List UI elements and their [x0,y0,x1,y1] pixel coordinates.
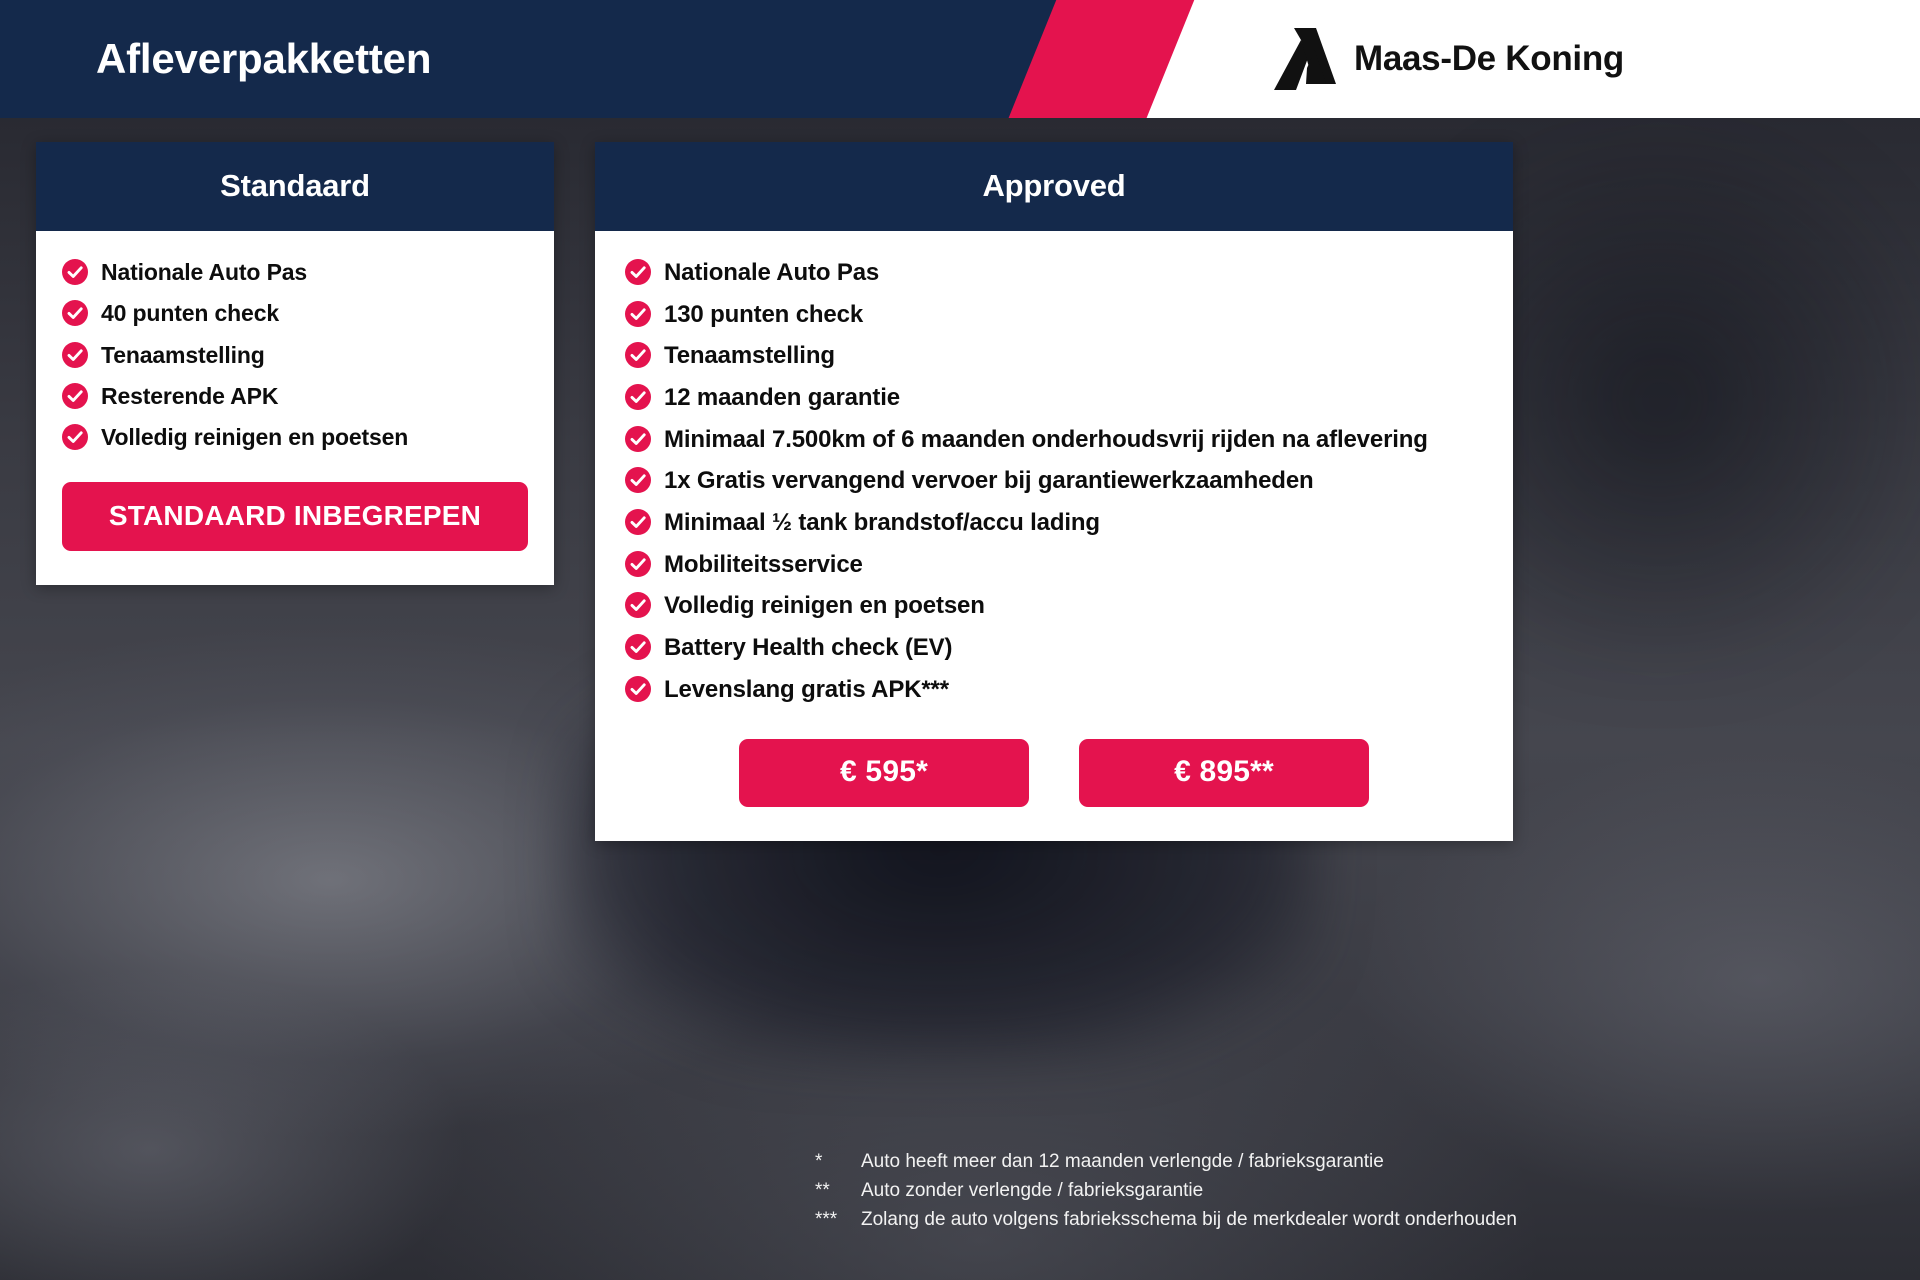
maas-de-koning-m-icon [1270,28,1336,90]
feature-label: 12 maanden garantie [664,382,900,414]
check-circle-icon [625,384,651,410]
feature-label: Tenaamstelling [101,340,265,370]
list-item: Tenaamstelling [625,340,1483,372]
list-item: Nationale Auto Pas [62,257,528,287]
check-circle-icon [62,383,88,409]
list-item: Volledig reinigen en poetsen [625,590,1483,622]
feature-label: Levenslang gratis APK*** [664,674,949,706]
check-circle-icon [625,676,651,702]
check-circle-icon [62,300,88,326]
feature-label: Mobiliteitsservice [664,549,863,581]
feature-label: Nationale Auto Pas [101,257,307,287]
brand-logo[interactable]: Maas-De Koning [1270,28,1624,90]
package-title-approved: Approved [595,142,1513,231]
list-item: 40 punten check [62,298,528,328]
list-item: 130 punten check [625,299,1483,331]
feature-label: Nationale Auto Pas [664,257,879,289]
list-item: Nationale Auto Pas [625,257,1483,289]
feature-label: Minimaal ½ tank brandstof/accu lading [664,507,1100,539]
check-circle-icon [62,424,88,450]
check-circle-icon [625,259,651,285]
check-circle-icon [62,259,88,285]
list-item: Volledig reinigen en poetsen [62,422,528,452]
package-title-standaard: Standaard [36,142,554,231]
feature-label: Resterende APK [101,381,278,411]
package-card-standaard: Standaard Nationale Auto Pas 40 punten c… [36,142,554,585]
footnote-row: * Auto heeft meer dan 12 maanden verleng… [815,1148,1517,1177]
check-circle-icon [625,467,651,493]
poster-canvas: Afleverpakketten Maas-De Koning Standaar… [0,0,1920,1280]
list-item: Minimaal ½ tank brandstof/accu lading [625,507,1483,539]
brand-name: Maas-De Koning [1354,39,1624,79]
feature-label: Minimaal 7.500km of 6 maanden onderhouds… [664,424,1428,456]
feature-label: 40 punten check [101,298,279,328]
feature-label: Volledig reinigen en poetsen [664,590,985,622]
footnote-marker: ** [815,1177,861,1206]
check-circle-icon [625,509,651,535]
list-item: Tenaamstelling [62,340,528,370]
check-circle-icon [62,342,88,368]
price-button-595[interactable]: € 595* [739,739,1029,807]
list-item: Battery Health check (EV) [625,632,1483,664]
list-item: 12 maanden garantie [625,382,1483,414]
check-circle-icon [625,592,651,618]
feature-label: Battery Health check (EV) [664,632,952,664]
standaard-inbegrepen-button[interactable]: STANDAARD INBEGREPEN [62,482,528,551]
package-card-approved: Approved Nationale Auto Pas 130 punten c… [595,142,1513,841]
check-circle-icon [625,426,651,452]
standaard-cta-row: STANDAARD INBEGREPEN [36,464,554,585]
footnote-marker: *** [815,1206,861,1235]
footnote-text: Auto zonder verlengde / fabrieksgarantie [861,1177,1203,1206]
footnote-row: *** Zolang de auto volgens fabrieksschem… [815,1206,1517,1235]
list-item: Levenslang gratis APK*** [625,674,1483,706]
approved-price-row: € 595* € 895** [595,715,1513,841]
price-button-895[interactable]: € 895** [1079,739,1369,807]
feature-label: Volledig reinigen en poetsen [101,422,408,452]
footnote-text: Zolang de auto volgens fabrieksschema bi… [861,1206,1517,1235]
check-circle-icon [625,301,651,327]
footnote-text: Auto heeft meer dan 12 maanden verlengde… [861,1148,1384,1177]
feature-label: Tenaamstelling [664,340,835,372]
footnote-marker: * [815,1148,861,1177]
footnote-row: ** Auto zonder verlengde / fabrieksgaran… [815,1177,1517,1206]
list-item: 1x Gratis vervangend vervoer bij garanti… [625,465,1483,497]
feature-label: 130 punten check [664,299,863,331]
list-item: Resterende APK [62,381,528,411]
check-circle-icon [625,342,651,368]
list-item: Mobiliteitsservice [625,549,1483,581]
page-title: Afleverpakketten [96,35,431,83]
list-item: Minimaal 7.500km of 6 maanden onderhouds… [625,424,1483,456]
feature-list-standaard: Nationale Auto Pas 40 punten check Tenaa… [62,257,528,453]
page-header: Afleverpakketten Maas-De Koning [0,0,1920,118]
footnotes-block: * Auto heeft meer dan 12 maanden verleng… [815,1148,1517,1235]
check-circle-icon [625,634,651,660]
feature-list-approved: Nationale Auto Pas 130 punten check Tena… [625,257,1483,705]
feature-label: 1x Gratis vervangend vervoer bij garanti… [664,465,1314,497]
check-circle-icon [625,551,651,577]
